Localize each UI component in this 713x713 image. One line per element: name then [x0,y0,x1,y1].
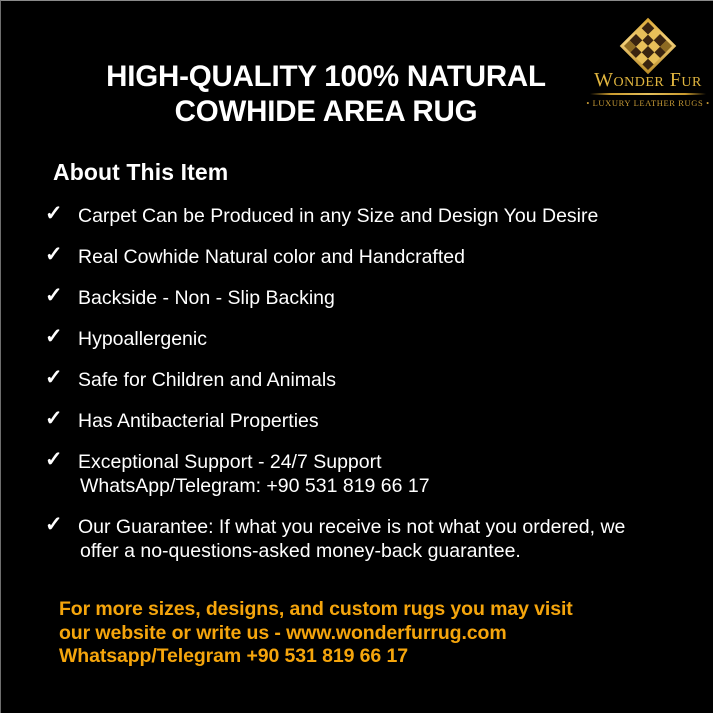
list-item-label: Safe for Children and Animals [78,369,336,391]
footer-line-3: Whatsapp/Telegram +90 531 819 66 17 [59,645,573,669]
list-item: ✓ Exceptional Support - 24/7 Support Wha… [45,450,685,498]
list-item-label: Hypoallergenic [78,328,207,350]
check-icon: ✓ [45,325,63,349]
list-item-label: Backside - Non - Slip Backing [78,287,335,309]
list-item-label: Has Antibacterial Properties [78,410,319,432]
page-title: HIGH-QUALITY 100% NATURAL COWHIDE AREA R… [93,59,559,129]
footer-line-2: our website or write us - www.wonderfurr… [59,622,573,646]
list-item: ✓ Backside - Non - Slip Backing [45,286,685,310]
list-item: ✓ Hypoallergenic [45,327,685,351]
about-this-item-heading: About This Item [53,159,228,186]
page-title-line-1: HIGH-QUALITY 100% NATURAL [93,59,559,94]
list-item-label-line-2: WhatsApp/Telegram: +90 531 819 66 17 [78,474,685,498]
list-item-label: Carpet Can be Produced in any Size and D… [78,205,598,227]
list-item: ✓ Safe for Children and Animals [45,368,685,392]
footer-contact-block: For more sizes, designs, and custom rugs… [59,598,573,669]
check-icon: ✓ [45,243,63,267]
feature-list: ✓ Carpet Can be Produced in any Size and… [45,204,685,580]
check-icon: ✓ [45,366,63,390]
list-item: ✓ Carpet Can be Produced in any Size and… [45,204,685,228]
check-icon: ✓ [45,284,63,308]
check-icon: ✓ [45,202,63,226]
footer-line-1: For more sizes, designs, and custom rugs… [59,598,573,622]
logo-divider [590,93,706,95]
list-item-label: Our Guarantee: If what you receive is no… [78,516,625,538]
brand-tagline: • LUXURY LEATHER RUGS • [584,98,712,108]
product-info-card: Wonder Fur • LUXURY LEATHER RUGS • HIGH-… [0,0,713,713]
check-icon: ✓ [45,513,63,537]
check-icon: ✓ [45,448,63,472]
page-title-line-2: COWHIDE AREA RUG [93,94,559,129]
check-icon: ✓ [45,407,63,431]
list-item-label: Real Cowhide Natural color and Handcraft… [78,246,465,268]
diamond-checkered-icon [620,17,677,74]
list-item: ✓ Has Antibacterial Properties [45,409,685,433]
list-item: ✓ Real Cowhide Natural color and Handcra… [45,245,685,269]
brand-logo: Wonder Fur • LUXURY LEATHER RUGS • [584,22,712,118]
list-item-label: Exceptional Support - 24/7 Support [78,451,382,473]
list-item: ✓ Our Guarantee: If what you receive is … [45,515,685,563]
logo-diamond-wrap [584,22,712,69]
list-item-label-line-2: offer a no-questions-asked money-back gu… [78,539,685,563]
